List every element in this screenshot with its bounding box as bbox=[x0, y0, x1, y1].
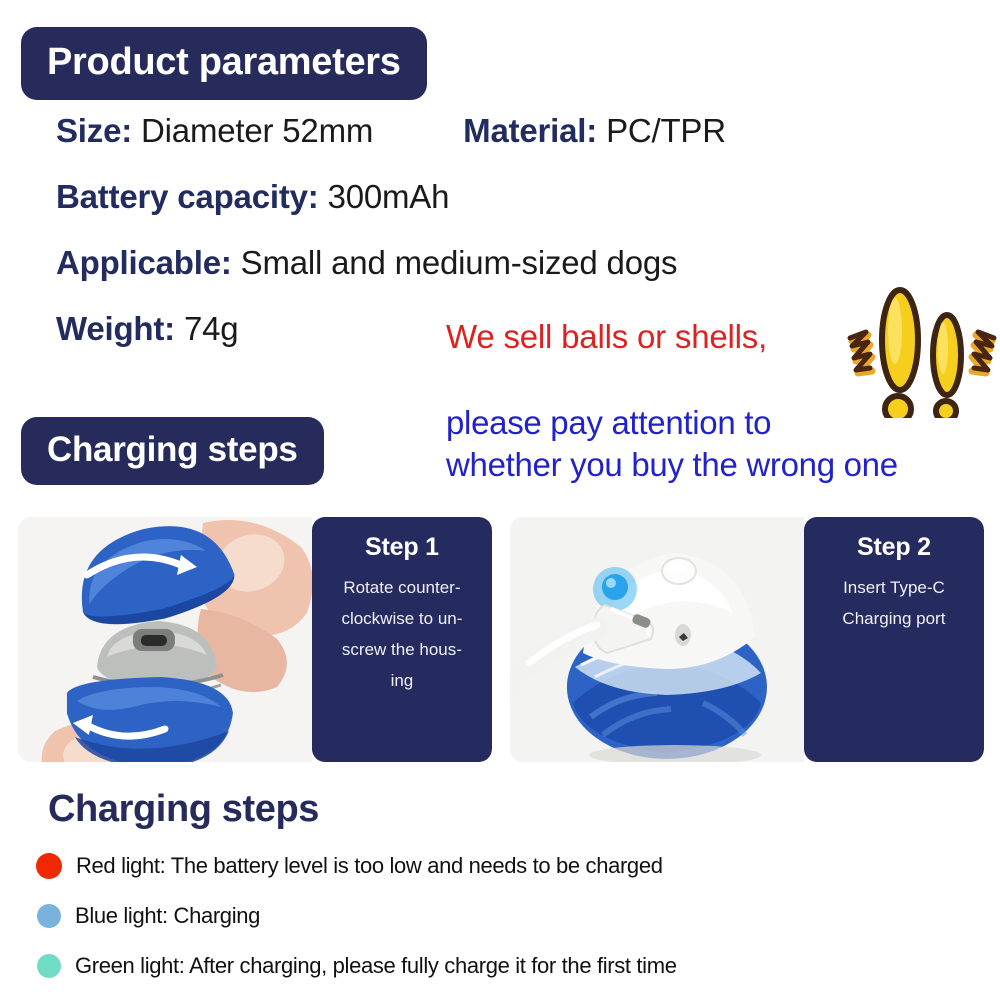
product-parameters-badge: Product parameters bbox=[21, 27, 427, 100]
spec-label-weight: Weight: bbox=[56, 310, 175, 348]
red-light-dot-icon bbox=[36, 853, 62, 879]
spec-pair-material: Material: PC/TPR bbox=[463, 112, 726, 150]
step-2-desc-line-2: Charging port bbox=[812, 603, 976, 634]
blue-light-dot-icon bbox=[37, 904, 61, 928]
step-2-title: Step 2 bbox=[812, 533, 976, 562]
step-1-desc-line-3: screw the hous- bbox=[320, 634, 484, 665]
spec-row-size: Size: Diameter 52mm Material: PC/TPR bbox=[56, 112, 956, 178]
legend-heading: Charging steps bbox=[48, 788, 319, 831]
spec-label-applicable: Applicable: bbox=[56, 244, 232, 282]
step-2-desc-line-1: Insert Type-C bbox=[812, 572, 976, 603]
legend-label-red: Red light: The battery level is too low … bbox=[76, 853, 663, 879]
notice-blue-text: please pay attention to whether you buy … bbox=[446, 402, 898, 486]
charging-steps-badge: Charging steps bbox=[21, 417, 324, 485]
spec-label-material: Material: bbox=[463, 112, 597, 150]
legend-item-blue: Blue light: Charging bbox=[36, 891, 976, 941]
step-1-desc-line-4: ing bbox=[320, 665, 484, 696]
step-1-text-panel: Step 1 Rotate counter- clockwise to un- … bbox=[312, 517, 492, 762]
spec-value-size: Diameter 52mm bbox=[141, 112, 373, 150]
legend-label-blue: Blue light: Charging bbox=[75, 903, 260, 929]
step-card-2: Step 2 Insert Type-C Charging port bbox=[510, 517, 984, 762]
usb-c-charging-photo bbox=[510, 517, 804, 762]
step-2-description: Insert Type-C Charging port bbox=[812, 572, 976, 634]
step-1-desc-line-2: clockwise to un- bbox=[320, 603, 484, 634]
legend-list: Red light: The battery level is too low … bbox=[36, 841, 976, 991]
step-2-text-panel: Step 2 Insert Type-C Charging port bbox=[804, 517, 984, 762]
spec-label-battery-capacity: Battery capacity: bbox=[56, 178, 319, 216]
notice-blue-line-1: please pay attention to bbox=[446, 402, 898, 444]
step-1-desc-line-1: Rotate counter- bbox=[320, 572, 484, 603]
step-1-description: Rotate counter- clockwise to un- screw t… bbox=[320, 572, 484, 696]
spec-label-size: Size: bbox=[56, 112, 132, 150]
spec-value-weight: 74g bbox=[184, 310, 238, 348]
spec-row-applicable: Applicable: Small and medium-sized dogs bbox=[56, 244, 956, 310]
notice-red-text: We sell balls or shells, bbox=[446, 318, 767, 356]
green-light-dot-icon bbox=[37, 954, 61, 978]
spec-value-material: PC/TPR bbox=[606, 112, 726, 150]
spec-row-battery-capacity: Battery capacity: 300mAh bbox=[56, 178, 956, 244]
step-cards-row: Step 1 Rotate counter- clockwise to un- … bbox=[18, 517, 984, 762]
legend-label-green: Green light: After charging, please full… bbox=[75, 953, 677, 979]
ball-unscrew-photo bbox=[18, 517, 312, 762]
step-1-title: Step 1 bbox=[320, 533, 484, 562]
step-card-1: Step 1 Rotate counter- clockwise to un- … bbox=[18, 517, 492, 762]
legend-item-red: Red light: The battery level is too low … bbox=[36, 841, 976, 891]
notice-blue-line-2: whether you buy the wrong one bbox=[446, 444, 898, 486]
legend-item-green: Green light: After charging, please full… bbox=[36, 941, 976, 991]
spec-value-applicable: Small and medium-sized dogs bbox=[241, 244, 678, 282]
spec-value-battery-capacity: 300mAh bbox=[328, 178, 450, 216]
